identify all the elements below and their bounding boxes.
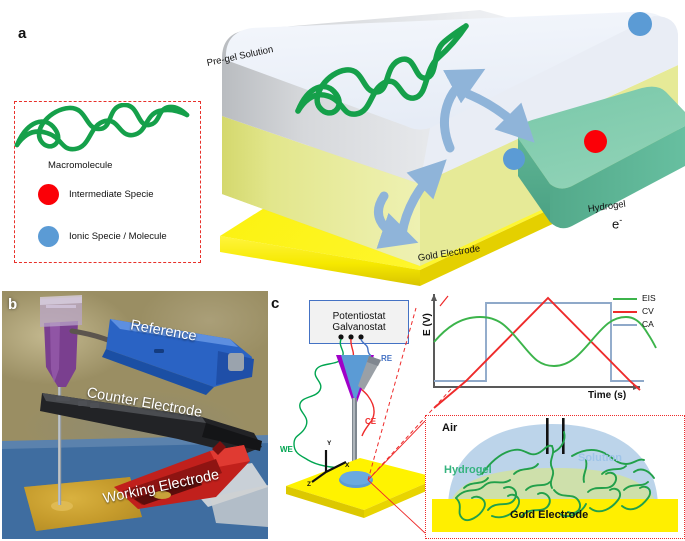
ionic-specie-top [628,12,652,36]
inset-hydrogel-label: Hydrogel [444,464,492,476]
legend-label-ionic: Ionic Specie / Molecule [69,231,167,242]
working-electrode-tag: WE [280,445,293,454]
legend-label-intermediate: Intermediate Specie [69,189,154,200]
legend-label-macromolecule: Macromolecule [48,160,112,171]
legend-entry-eis: EIS [642,293,656,303]
legend-icon-ionic [38,226,59,247]
reference-electrode-tag: RE [381,354,392,363]
legend-swatch-eis [613,298,637,300]
inset-solution-label: Solution [578,452,622,464]
panel-c-schematic: c Potentiostat Galvanostat [268,290,685,541]
legend-entry-ca: CA [642,319,654,329]
series-ca [434,303,644,381]
panel-b-photo: b Reference Counter Electrode Working El… [2,291,268,539]
electron-charge: - [619,215,622,225]
inset-air-label: Air [442,422,457,434]
panel-a-letter: a [18,26,26,41]
ionic-specie-lower [503,148,525,170]
inset-gold-electrode-label: Gold Electrode [510,509,588,521]
axis-x-tag: X [345,462,349,469]
macromolecule-legend-icon [7,103,197,159]
chart-ylabel: E (V) [422,313,433,336]
legend-swatch-ca [613,324,637,326]
intermediate-specie [584,130,607,153]
electron-label: e- [612,215,622,231]
potential-waveform-chart: E (V) Time (s) EIS CV CA [408,290,685,412]
panel-b-letter: b [8,297,17,312]
axis-z-tag: Z [307,481,311,488]
legend-box: Macromolecule Intermediate Specie Ionic … [14,101,201,263]
figure-root: a [0,0,685,541]
panel-a: a [0,0,685,288]
chart-xlabel: Time (s) [588,390,626,401]
axis-y-tag: Y [327,440,331,447]
hydrogel-interface-inset: Air Hydrogel Solution Gold Electrode [425,415,685,539]
legend-entry-cv: CV [642,306,654,316]
legend-icon-intermediate [38,184,59,205]
counter-electrode-tag: CE [365,417,376,426]
legend-swatch-cv [613,311,637,313]
